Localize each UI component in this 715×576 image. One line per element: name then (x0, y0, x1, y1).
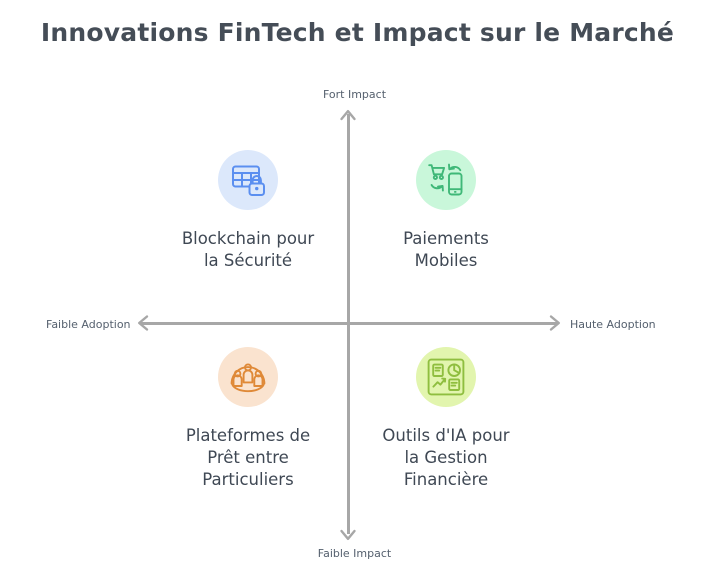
cart-phone-exchange-icon (416, 150, 476, 210)
axis-label-top: Fort Impact (0, 88, 712, 101)
axis-label-bottom: Faible Impact (0, 547, 712, 560)
table-lock-icon (218, 150, 278, 210)
quadrant-matrix: Fort Impact Faible Impact Faible Adoptio… (0, 0, 715, 576)
arrow-left-icon (136, 313, 156, 333)
horizontal-axis-line (140, 322, 558, 325)
quadrant-label-bottom-right: Outils d'IA pour la Gestion Financière (382, 425, 509, 491)
arrow-down-icon (338, 522, 358, 542)
quadrant-label-top-left: Blockchain pour la Sécurité (182, 228, 314, 272)
quadrant-label-bottom-left: Plateformes de Prêt entre Particuliers (186, 425, 310, 491)
axis-label-right: Haute Adoption (570, 318, 656, 331)
people-group-icon (218, 347, 278, 407)
arrow-right-icon (542, 313, 562, 333)
dashboard-analytics-icon (416, 347, 476, 407)
arrow-up-icon (338, 108, 358, 128)
axis-label-left: Faible Adoption (46, 318, 131, 331)
quadrant-label-top-right: Paiements Mobiles (403, 228, 489, 272)
quadrant-item-bottom-right[interactable]: Outils d'IA pour la Gestion Financière (326, 347, 566, 491)
quadrant-item-top-right[interactable]: Paiements Mobiles (326, 150, 566, 272)
